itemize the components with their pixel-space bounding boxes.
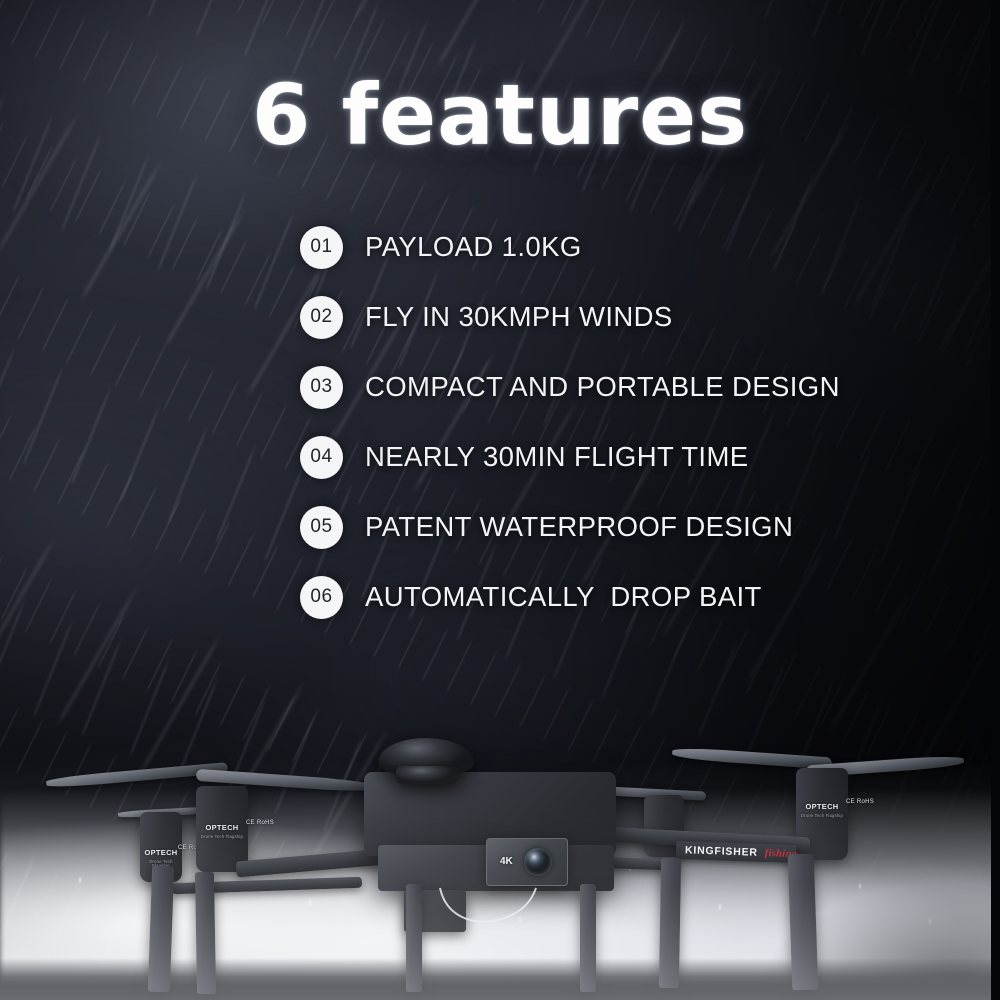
feature-item-04: 04 NEARLY 30MIN FLIGHT TIME bbox=[300, 434, 840, 480]
cert-text: CE RoHS bbox=[246, 820, 274, 826]
brand-nameplate: KINGFISHER fishing bbox=[676, 841, 797, 863]
motor-pod-brand-right-front: OPTECH Drone Tech Flagship bbox=[796, 797, 848, 818]
feature-number-badge: 05 bbox=[300, 506, 343, 549]
camera-lens bbox=[524, 848, 552, 876]
feature-number-badge: 01 bbox=[300, 226, 343, 269]
brand-name-text: KINGFISHER bbox=[685, 844, 758, 859]
feature-label: NEARLY 30MIN FLIGHT TIME bbox=[365, 441, 749, 473]
payload-release-wire bbox=[436, 886, 566, 932]
motor-pod-brand-rear-left: OPTECH Drone Tech Flagship bbox=[140, 843, 182, 869]
feature-number-badge: 02 bbox=[300, 296, 343, 339]
feature-label: AUTOMATICALLY DROP BAIT bbox=[365, 581, 762, 613]
certification-mark-right-front: CE RoHS bbox=[846, 799, 874, 805]
feature-label: FLY IN 30KMPH WINDS bbox=[365, 301, 673, 333]
right-edge-border bbox=[991, 0, 1000, 1000]
motor-pod-sub-text: Drone Tech Flagship bbox=[196, 835, 248, 839]
feature-item-05: 05 PATENT WATERPROOF DESIGN bbox=[300, 504, 840, 550]
landing-leg-left bbox=[195, 872, 216, 994]
motor-pod-sub-text: Drone Tech Flagship bbox=[796, 814, 848, 818]
feature-label: PAYLOAD 1.0KG bbox=[365, 231, 582, 263]
landing-leg-far-left bbox=[148, 866, 174, 993]
feature-item-02: 02 FLY IN 30KMPH WINDS bbox=[300, 294, 840, 340]
drone-dome-base bbox=[396, 766, 458, 784]
feature-number-badge: 04 bbox=[300, 436, 343, 479]
camera-resolution-label: 4K bbox=[500, 856, 513, 867]
feature-item-01: 01 PAYLOAD 1.0KG bbox=[300, 224, 840, 270]
feature-number-badge: 06 bbox=[300, 576, 343, 619]
page-title: 6 features bbox=[0, 66, 1000, 164]
landing-leg-center-right bbox=[580, 884, 596, 992]
certification-mark-front-left: CE RoHS bbox=[246, 820, 274, 826]
feature-label: PATENT WATERPROOF DESIGN bbox=[365, 511, 793, 543]
feature-list: 01 PAYLOAD 1.0KG 02 FLY IN 30KMPH WINDS … bbox=[300, 224, 840, 644]
feature-item-06: 06 AUTOMATICALLY DROP BAIT bbox=[300, 574, 840, 620]
feature-number-badge: 03 bbox=[300, 366, 343, 409]
landing-leg-right bbox=[659, 858, 681, 988]
product-feature-poster: 6 features 01 PAYLOAD 1.0KG 02 FLY IN 30… bbox=[0, 0, 1000, 1000]
motor-pod-brand-front-left: OPTECH Drone Tech Flagship bbox=[196, 818, 248, 839]
motor-pod-brand-text: OPTECH bbox=[205, 823, 238, 832]
motor-pod-brand-text: OPTECH bbox=[144, 848, 177, 857]
cert-text: CE RoHS bbox=[846, 799, 874, 805]
drone-arm-left bbox=[236, 848, 387, 877]
motor-pod-brand-text: OPTECH bbox=[805, 802, 838, 811]
landing-leg-far-right bbox=[788, 854, 819, 991]
feature-label: COMPACT AND PORTABLE DESIGN bbox=[365, 371, 840, 403]
feature-item-03: 03 COMPACT AND PORTABLE DESIGN bbox=[300, 364, 840, 410]
landing-leg-center-left bbox=[406, 884, 422, 992]
